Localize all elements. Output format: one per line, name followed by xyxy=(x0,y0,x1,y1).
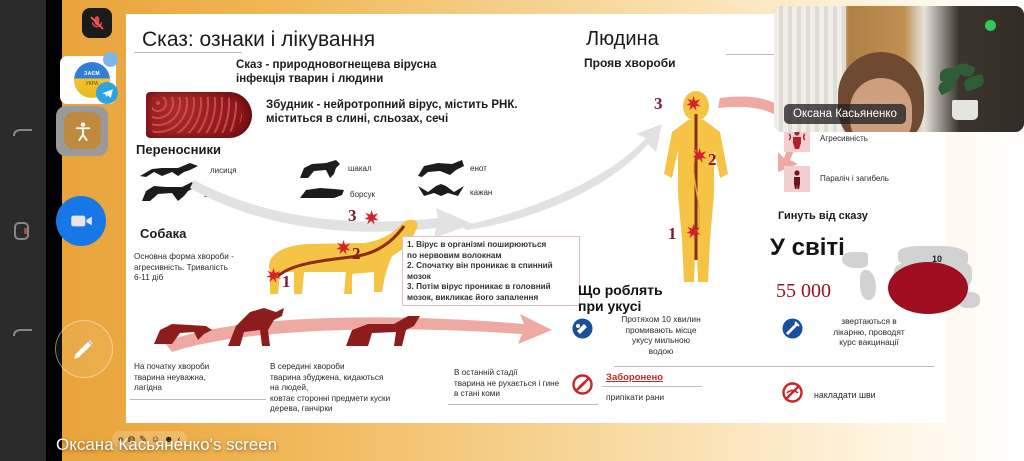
bite-action-text-1: Протяхом 10 хвилин промивають місце укус… xyxy=(602,314,720,356)
forbidden-text-2: накладати шви xyxy=(814,390,876,401)
dog-stage-3-silhouette xyxy=(342,312,428,350)
bite-actions-heading: Що роблять при укусі xyxy=(578,282,663,314)
virus-path-text: 1. Вірус в організмі поширюються по нерв… xyxy=(407,240,553,303)
no-stitches-icon xyxy=(782,382,803,403)
human-heading: Людина xyxy=(586,28,659,51)
dog-marker-3: 3 xyxy=(348,206,357,226)
pencil-icon[interactable] xyxy=(55,320,113,378)
accessibility-button[interactable] xyxy=(56,106,108,156)
video-camera-icon[interactable] xyxy=(56,196,106,246)
dog-stage-2-silhouette xyxy=(222,304,292,348)
meeting-screen: Сказ: ознаки і лікування Сказ - природно… xyxy=(0,0,1024,461)
participant-video-tile[interactable]: Оксана Касьяненко xyxy=(774,6,1024,132)
accessibility-icon xyxy=(64,112,101,149)
bracket-bottom-icon[interactable] xyxy=(10,322,36,348)
wash-wound-icon xyxy=(572,318,593,339)
no-cauterize-icon xyxy=(572,374,593,395)
world-map: 10 xyxy=(842,242,990,316)
world-cases-blob xyxy=(888,262,968,314)
map-value: 10 xyxy=(932,254,942,264)
app-rail xyxy=(0,0,46,461)
dog-marker-1: 1 xyxy=(282,272,291,292)
bite-action-text-2: звертаються в лікарню, проводят курс вак… xyxy=(810,316,928,348)
participant-name-badge: Оксана Касьяненко xyxy=(784,104,906,124)
stage-1-rule xyxy=(130,399,266,400)
symptom-label-2: Агресивність xyxy=(820,134,868,143)
globe-text-top: ЗАЄМ xyxy=(74,71,110,77)
human-subheading: Прояв хвороби xyxy=(584,56,676,70)
stage-text-3: В останній стадії тварина не рухається і… xyxy=(454,368,559,400)
human-marker-1: 1 xyxy=(668,224,677,244)
paralysis-icon xyxy=(784,166,810,192)
world-label: У світі xyxy=(770,234,845,262)
app-badge-dot xyxy=(103,52,118,67)
forbidden-label: Заборонено xyxy=(606,372,663,383)
symptom-label-3: Параліч і загибель xyxy=(820,174,889,183)
title-underline xyxy=(134,52,242,53)
dog-heading: Собака xyxy=(140,226,186,241)
bracket-top-icon[interactable] xyxy=(10,120,36,146)
dog-text: Основна форма хвороби - агресивність. Тр… xyxy=(134,252,234,284)
poster-intro: Сказ - природновогнещева вірусна інфекці… xyxy=(236,58,436,86)
virus-capsule-icon xyxy=(146,92,252,138)
dog-marker-2: 2 xyxy=(352,244,361,264)
active-speaker-indicator xyxy=(985,20,996,31)
human-marker-3: 3 xyxy=(654,94,663,114)
carriers-heading: Переносники xyxy=(136,142,221,157)
vaccination-icon xyxy=(782,318,803,339)
plant-decor xyxy=(938,64,988,108)
stage-3-rule xyxy=(448,404,598,405)
dog-stage-1-silhouette xyxy=(150,314,216,348)
stage-text-2: В середині хвороби тварина збуджена, кид… xyxy=(270,362,390,415)
world-value: 55 000 xyxy=(776,280,831,303)
messenger-app-icon[interactable]: ЗАЄМ УКРА xyxy=(60,56,116,104)
forbidden-text-1: припікати рани xyxy=(606,392,664,403)
mic-muted-icon[interactable] xyxy=(82,8,112,38)
grey-arrow-up xyxy=(456,122,666,232)
share-label: Оксана Касьяненко's screen xyxy=(56,435,277,455)
mortality-heading: Гинуть від сказу xyxy=(778,210,868,222)
stage-text-1: На початку хвороби тварина неуважна, лаг… xyxy=(134,362,209,394)
telegram-icon[interactable] xyxy=(96,82,118,104)
dog-figure xyxy=(234,210,424,310)
carrier-label-jackal: шакал xyxy=(348,164,372,173)
poster-title: Сказ: ознаки і лікування xyxy=(142,28,375,52)
virus-path-callout: 1. Вірус в організмі поширюються по нерв… xyxy=(402,236,580,306)
battery-icon[interactable] xyxy=(10,218,36,244)
